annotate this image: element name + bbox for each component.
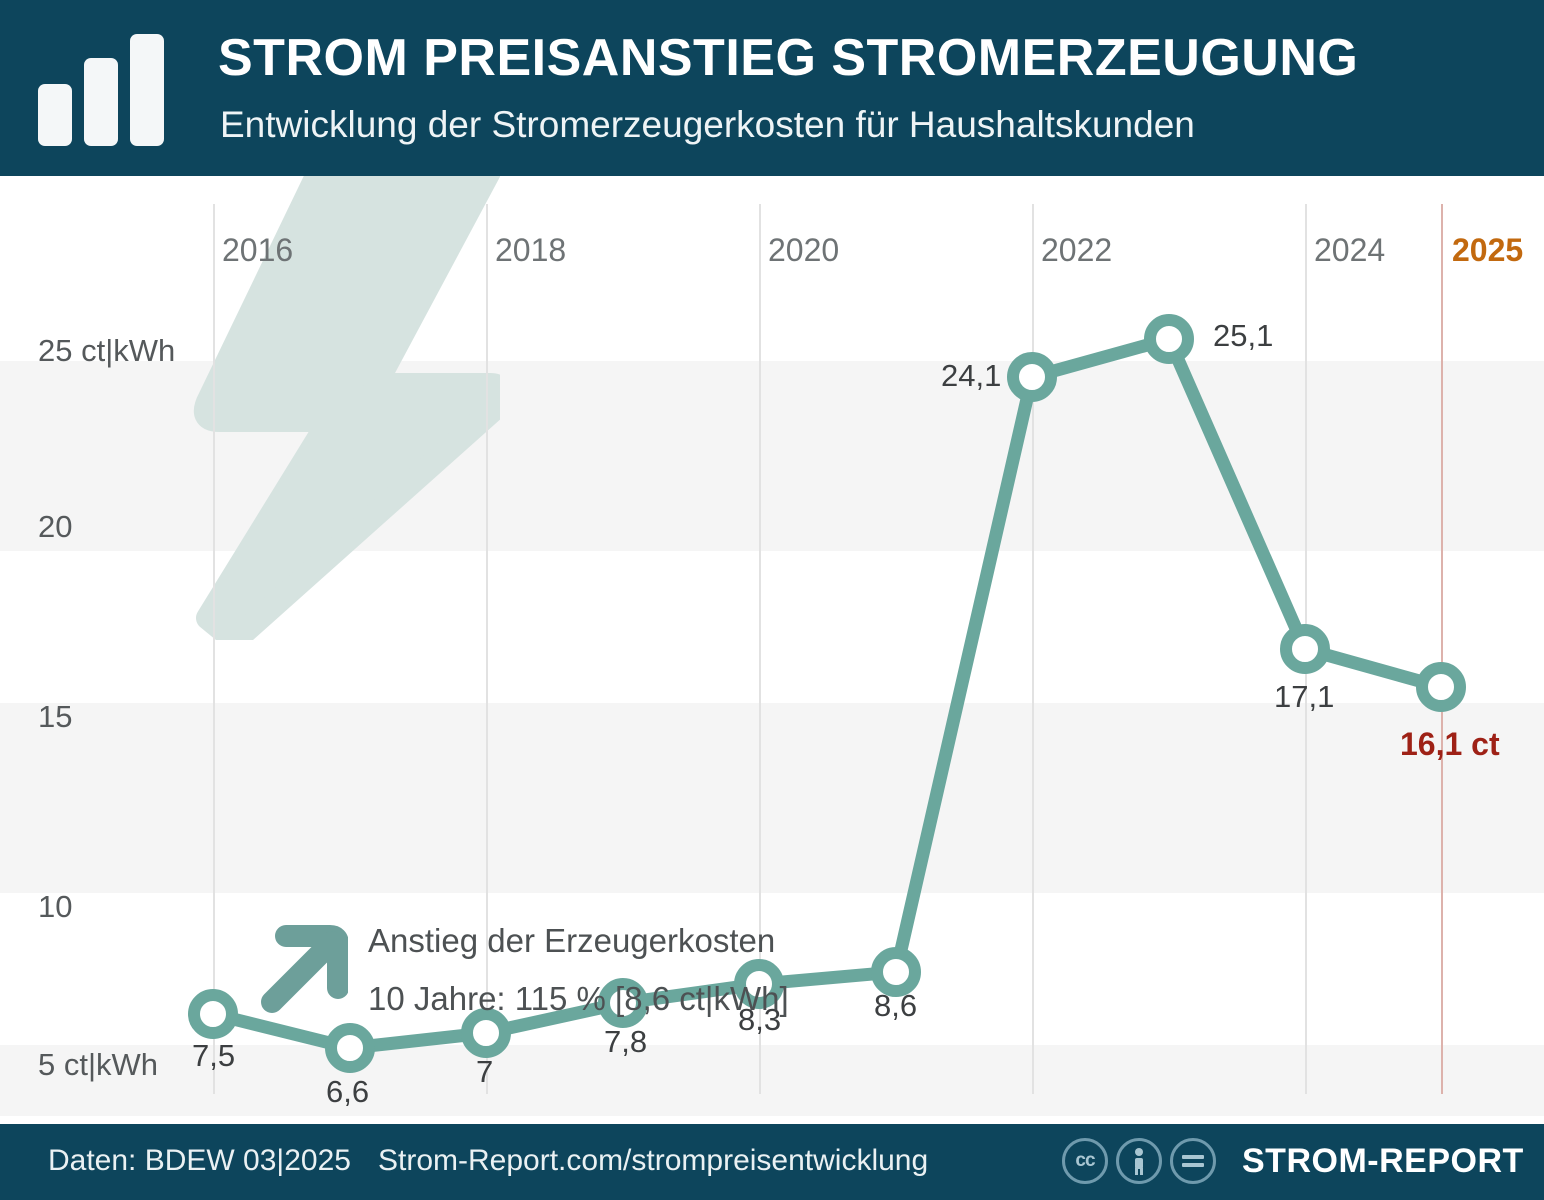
data-label-2023: 25,1	[1213, 318, 1273, 354]
data-point-2015	[194, 995, 232, 1033]
cc-by-person-icon	[1116, 1138, 1162, 1184]
data-label-2025: 16,1 ct	[1400, 726, 1500, 763]
data-label-2016: 6,6	[326, 1074, 369, 1110]
footer-url[interactable]: Strom-Report.com/strompreisentwicklung	[378, 1144, 928, 1178]
arrow-up-right-icon	[256, 924, 348, 1016]
logo-bar-small	[38, 84, 72, 146]
data-point-2023	[1150, 320, 1188, 358]
data-label-2024: 17,1	[1274, 679, 1334, 715]
data-point-2022	[1013, 358, 1051, 396]
person-glyph	[1126, 1146, 1152, 1176]
creative-commons-badges: cc	[1062, 1138, 1216, 1184]
bar-chart-icon	[38, 34, 178, 146]
chart-plot-area: 2016 2018 2020 2022 2024 2025 25 ct|kWh …	[0, 176, 1544, 1116]
page-title: STROM PREISANSTIEG STROMERZEUGUNG	[218, 28, 1518, 88]
equals-glyph	[1180, 1151, 1206, 1171]
data-point-2024	[1286, 630, 1324, 668]
line-series	[0, 176, 1544, 1116]
data-label-2018: 7,8	[604, 1024, 647, 1060]
infographic-root: STROM PREISANSTIEG STROMERZEUGUNG Entwic…	[0, 0, 1544, 1200]
data-label-2015: 7,5	[192, 1038, 235, 1074]
data-point-2017	[467, 1014, 505, 1052]
logo-bar-large	[130, 34, 164, 146]
footer-bar: Daten: BDEW 03|2025 Strom-Report.com/str…	[0, 1124, 1544, 1200]
data-label-2022: 24,1	[941, 358, 1001, 394]
annotation-line-1: Anstieg der Erzeugerkosten	[368, 922, 775, 960]
data-point-2025	[1422, 668, 1460, 706]
data-label-2017: 7	[476, 1054, 493, 1090]
cc-icon: cc	[1062, 1138, 1108, 1184]
brand-name: STROM-REPORT	[1242, 1142, 1524, 1181]
logo-bar-medium	[84, 58, 118, 146]
cc-nd-equals-icon	[1170, 1138, 1216, 1184]
annotation-line-2: 10 Jahre: 115 % [8,6 ct|kWh]	[368, 980, 789, 1018]
footer-source: Daten: BDEW 03|2025	[48, 1144, 351, 1178]
data-point-2016	[331, 1029, 369, 1067]
page-subtitle: Entwicklung der Stromerzeugerkosten für …	[220, 103, 1520, 147]
data-point-2020	[877, 953, 915, 991]
header-bar: STROM PREISANSTIEG STROMERZEUGUNG Entwic…	[0, 0, 1544, 176]
data-label-2020: 8,6	[874, 988, 917, 1024]
